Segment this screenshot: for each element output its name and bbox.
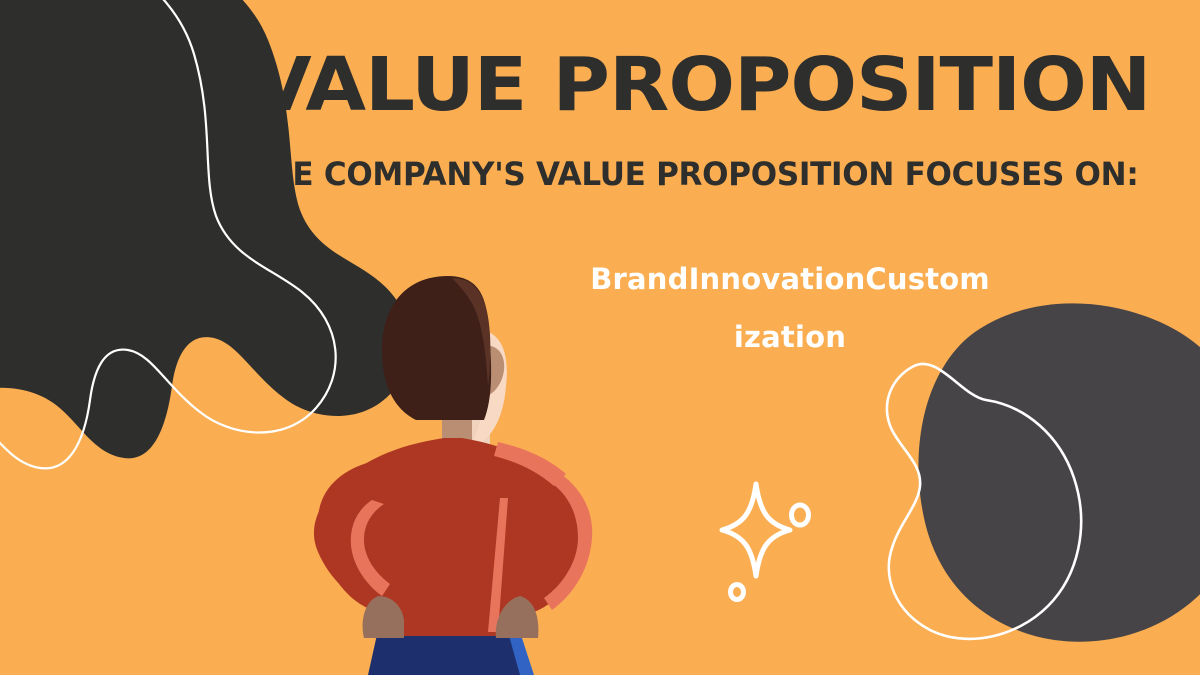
page-subtitle: THE COMPANY'S VALUE PROPOSITION FOCUSES …: [18, 158, 1182, 190]
page-title: VALUE PROPOSITION: [0, 48, 1200, 122]
slide-canvas: VALUE PROPOSITION THE COMPANY'S VALUE PR…: [0, 0, 1200, 675]
body-text: BrandInnovationCustomization: [590, 250, 990, 366]
